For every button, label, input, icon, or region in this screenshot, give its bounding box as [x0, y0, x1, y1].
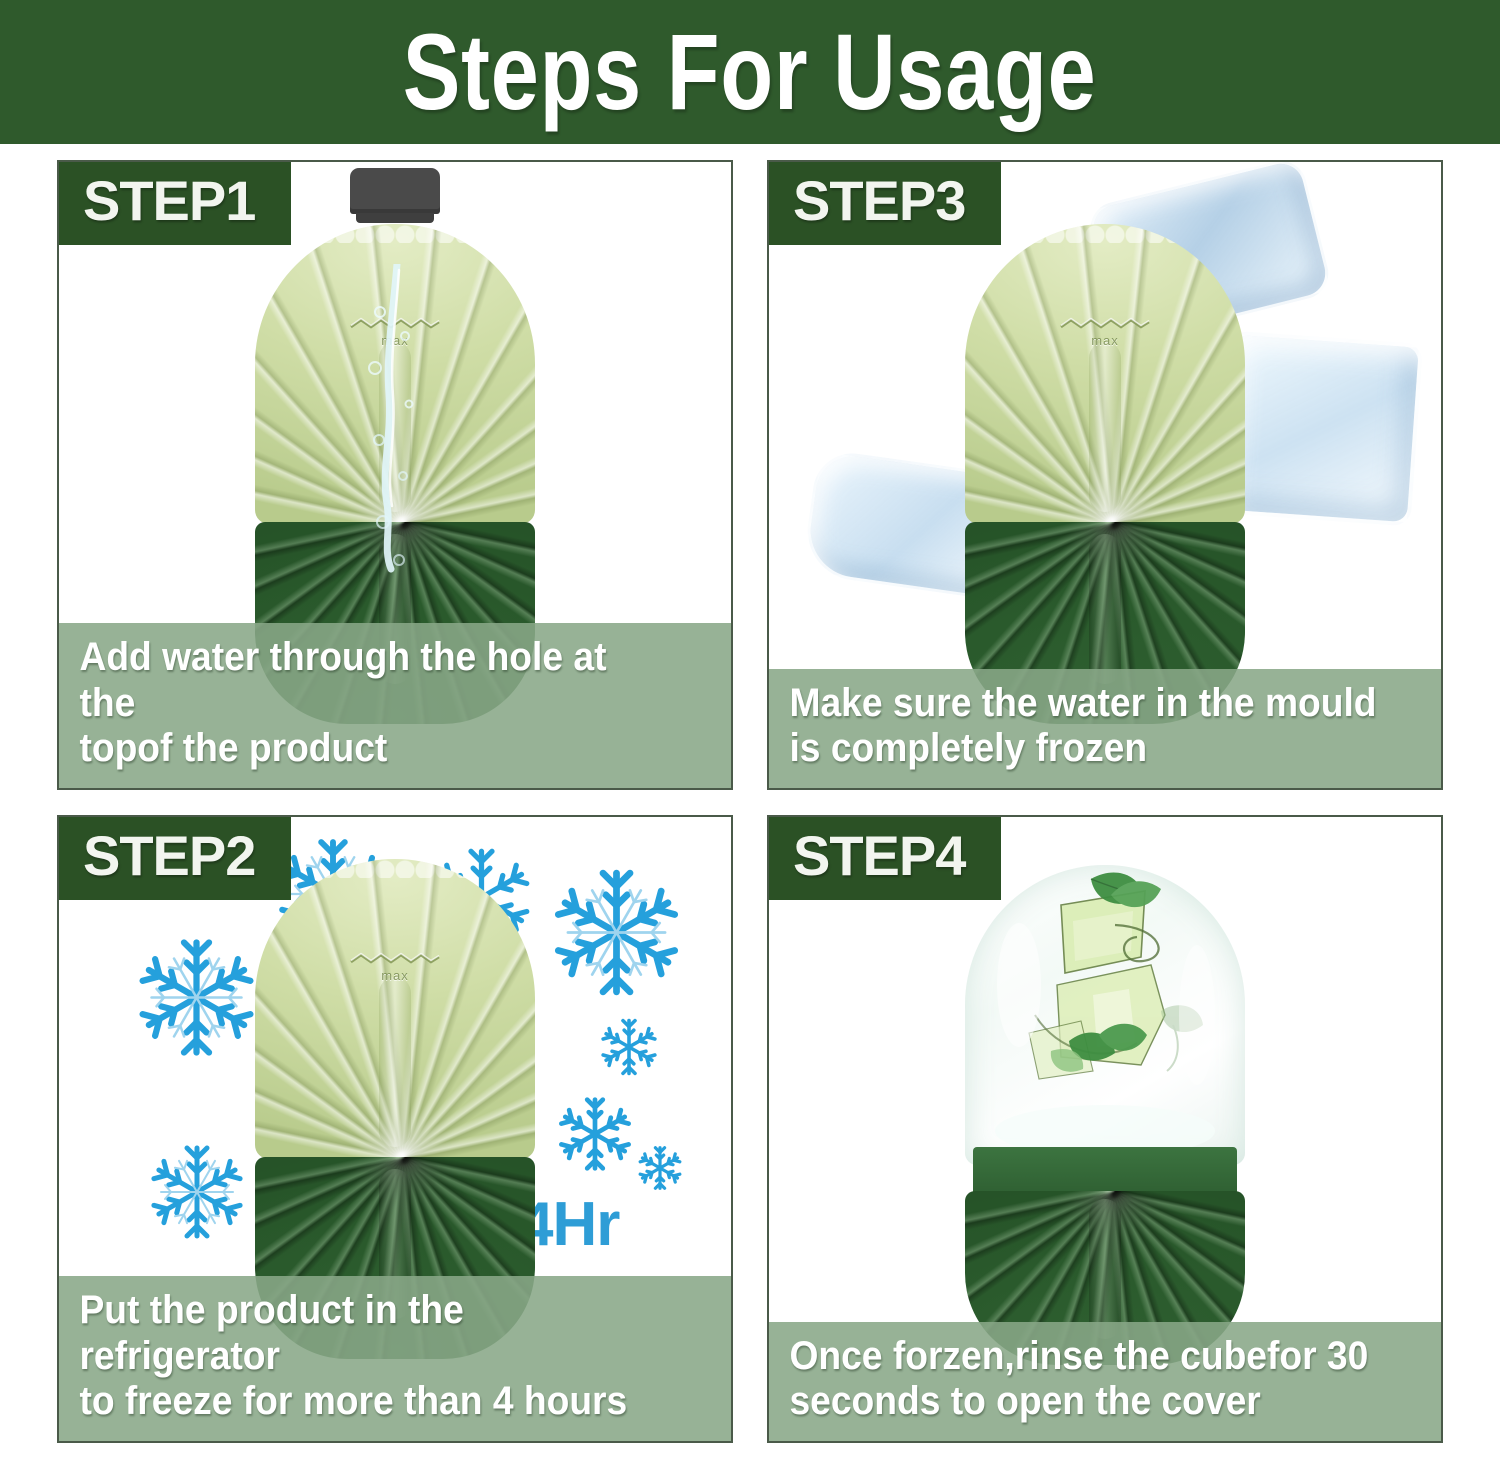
step-badge-label: STEP3 [793, 172, 965, 231]
step-panel-step4: STEP4 Once forzen,rinse the cubefor 30 s… [767, 815, 1443, 1443]
mould-lid: max [965, 224, 1245, 524]
max-fill-marking: max [340, 951, 450, 983]
step-caption-text: Put the product in the refrigerator to f… [59, 1288, 684, 1425]
snowflake-icon [134, 935, 259, 1060]
step-caption-text: Once forzen,rinse the cubefor 30 seconds… [769, 1334, 1394, 1425]
step-badge-step1: STEP1 [59, 162, 291, 245]
water-stream-icon [353, 264, 437, 594]
bottle-cap-icon [350, 168, 440, 214]
snowflake-icon [549, 865, 684, 1000]
step-badge-label: STEP2 [83, 827, 255, 886]
step-caption-step3: Make sure the water in the mould is comp… [769, 669, 1441, 788]
step-panel-step2: 4Hr [57, 815, 733, 1443]
step-caption-text: Make sure the water in the mould is comp… [769, 681, 1394, 772]
step-badge-step2: STEP2 [59, 817, 291, 900]
max-label: max [1050, 333, 1160, 348]
frozen-ice-cube [965, 865, 1245, 1165]
base-groove [1089, 534, 1121, 684]
lid-groove [1089, 342, 1121, 512]
max-label: max [340, 968, 450, 983]
step-badge-step4: STEP4 [769, 817, 1001, 900]
step-badge-label: STEP1 [83, 172, 255, 231]
ice-mould-product [965, 865, 1245, 1365]
steps-grid: max [57, 160, 1443, 1443]
step-badge-label: STEP4 [793, 827, 965, 886]
step-caption-step1: Add water through the hole at the topof … [59, 623, 731, 788]
infographic-page: Steps For Usage [0, 0, 1500, 1467]
step-caption-text: Add water through the hole at the topof … [59, 635, 684, 772]
base-groove [1089, 1199, 1121, 1339]
ice-inclusions [965, 865, 1245, 1165]
step-caption-step2: Put the product in the refrigerator to f… [59, 1276, 731, 1441]
max-fill-marking: max [1050, 316, 1160, 348]
snowflake-icon [599, 1017, 659, 1077]
page-header: Steps For Usage [0, 0, 1500, 144]
max-zigzag-icon [1059, 316, 1151, 332]
lid-groove [379, 977, 411, 1147]
ice-mould-product: max [965, 224, 1245, 724]
snowflake-icon [556, 1095, 634, 1173]
step-badge-step3: STEP3 [769, 162, 1001, 245]
snowflake-icon [147, 1142, 247, 1242]
ice-cube-right [1218, 330, 1423, 526]
max-zigzag-icon [349, 951, 441, 967]
step-panel-step3: max [767, 160, 1443, 790]
page-title: Steps For Usage [403, 18, 1097, 126]
snowflake-icon [637, 1145, 683, 1191]
mould-lid: max [255, 859, 535, 1159]
step-caption-step4: Once forzen,rinse the cubefor 30 seconds… [769, 1322, 1441, 1441]
step-panel-step1: max [57, 160, 733, 790]
